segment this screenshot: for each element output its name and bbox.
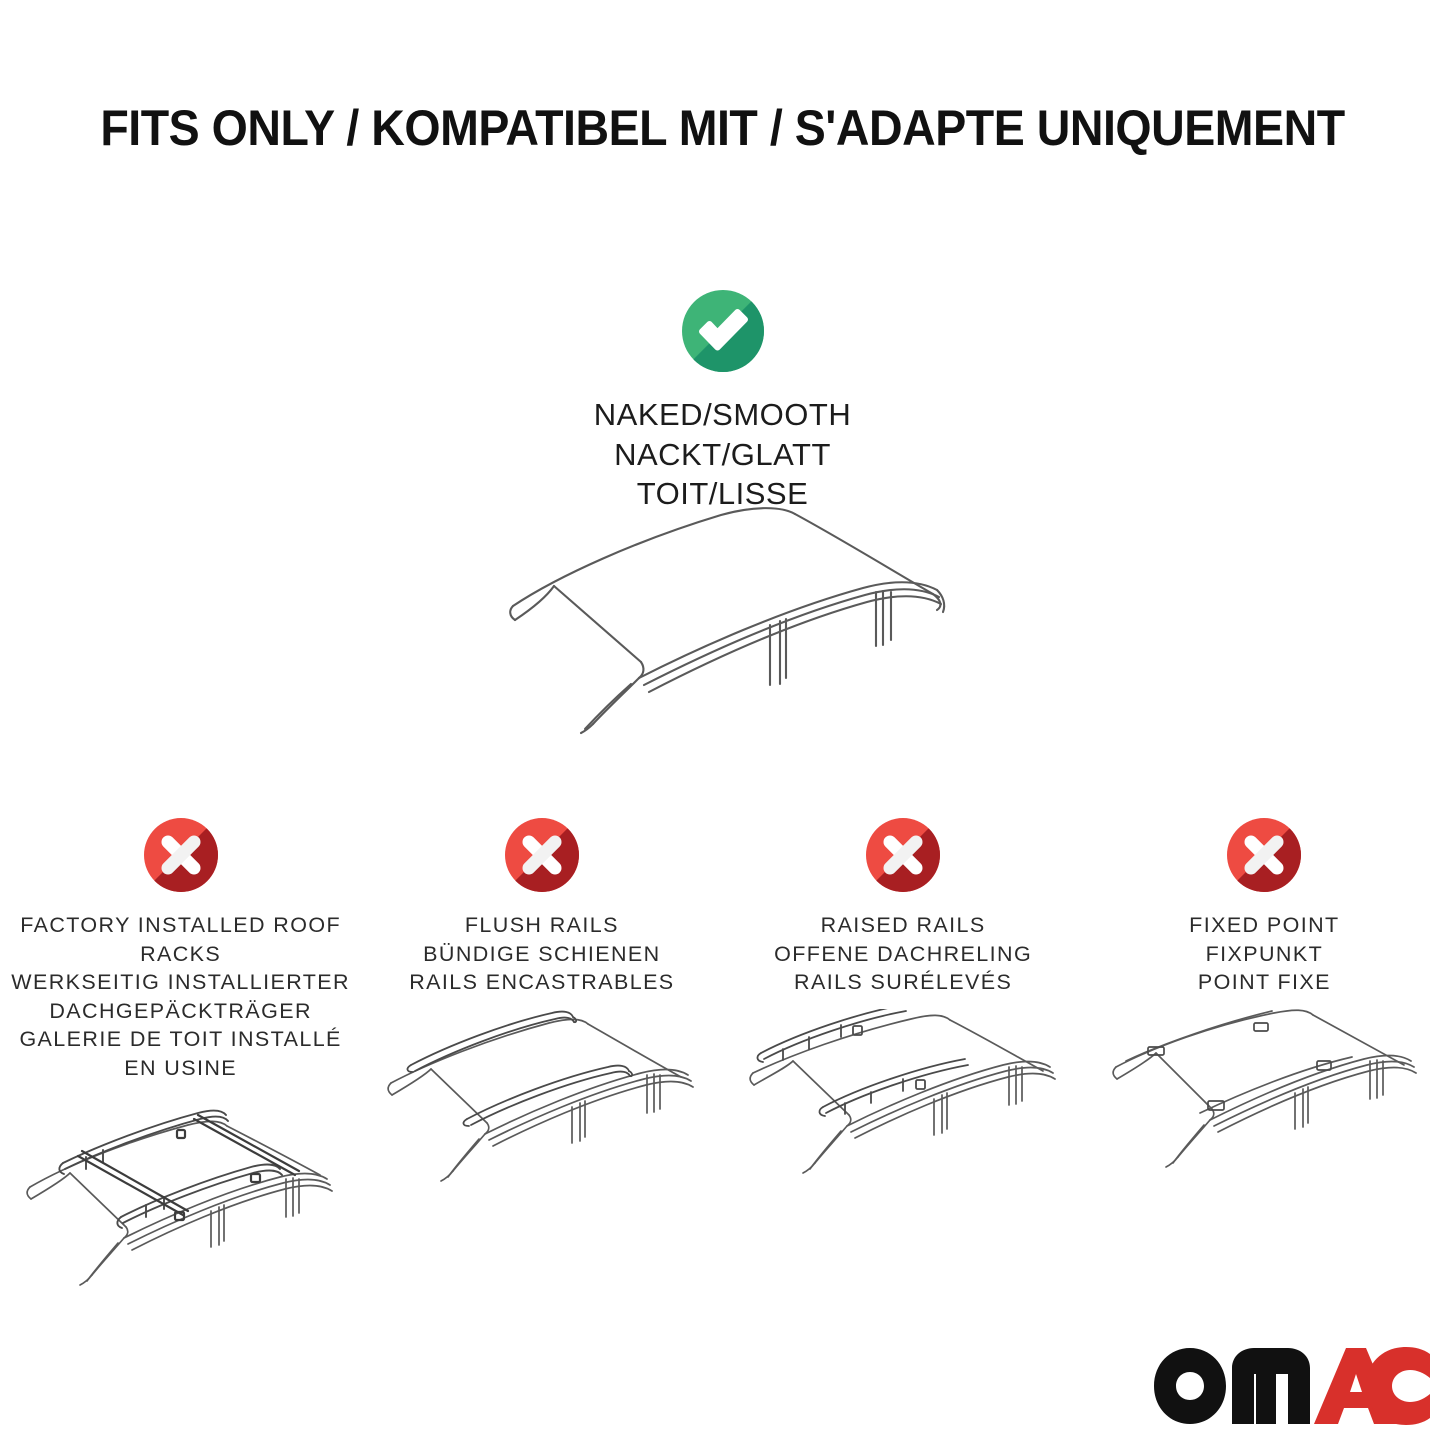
incompatible-labels: RAISED RAILS OFFENE DACHRELING RAILS SUR… [723, 911, 1084, 997]
label-line-1: FACTORY INSTALLED ROOF RACKS [0, 911, 361, 968]
label-line-2: WERKSEITIG INSTALLIERTER [0, 968, 361, 997]
x-circle-icon [1227, 818, 1301, 892]
label-line-3: DACHGEPÄCKTRÄGER [0, 997, 361, 1026]
label-line-2: BÜNDIGE SCHIENEN [361, 940, 722, 969]
roof-line-art [8, 1095, 353, 1305]
x-mark-glyph [144, 818, 218, 892]
x-circle-icon [505, 818, 579, 892]
logo-letter-o [1154, 1348, 1226, 1424]
roof-line-art [463, 488, 983, 743]
label-line-4: GALERIE DE TOIT INSTALLÉ EN USINE [0, 1025, 361, 1082]
label-line-2: OFFENE DACHRELING [723, 940, 1084, 969]
fixed-point-illustration [1084, 1009, 1445, 1224]
factory-roof-rack-illustration [0, 1095, 361, 1310]
compatible-label-en: NAKED/SMOOTH [0, 395, 1445, 435]
roof-line-art [1104, 1009, 1424, 1219]
incompatible-labels: FACTORY INSTALLED ROOF RACKS WERKSEITIG … [0, 911, 361, 1083]
label-line-3: RAILS ENCASTRABLES [361, 968, 722, 997]
page-title: FITS ONLY / KOMPATIBEL MIT / S'ADAPTE UN… [51, 102, 1395, 155]
naked-smooth-roof-illustration [0, 488, 1445, 748]
incompatible-item-factory-roof-racks: FACTORY INSTALLED ROOF RACKS WERKSEITIG … [0, 818, 361, 1310]
omac-logo: OMAC [1152, 1346, 1432, 1428]
incompatible-item-raised-rails: RAISED RAILS OFFENE DACHRELING RAILS SUR… [723, 818, 1084, 1224]
flush-rails-illustration [361, 1009, 722, 1224]
x-circle-icon [866, 818, 940, 892]
label-line-2: FIXPUNKT [1084, 940, 1445, 969]
roof-line-art [369, 1009, 714, 1219]
check-mark-glyph [682, 290, 764, 372]
roof-line-art [731, 1009, 1076, 1219]
omac-logo-glyph [1152, 1346, 1432, 1428]
incompatible-section: FACTORY INSTALLED ROOF RACKS WERKSEITIG … [0, 818, 1445, 1310]
incompatible-labels: FLUSH RAILS BÜNDIGE SCHIENEN RAILS ENCAS… [361, 911, 722, 997]
x-mark-glyph [1227, 818, 1301, 892]
label-line-1: RAISED RAILS [723, 911, 1084, 940]
raised-rails-illustration [723, 1009, 1084, 1224]
compatible-label-de: NACKT/GLATT [0, 435, 1445, 475]
x-mark-glyph [505, 818, 579, 892]
incompatible-item-flush-rails: FLUSH RAILS BÜNDIGE SCHIENEN RAILS ENCAS… [361, 818, 722, 1224]
incompatible-labels: FIXED POINT FIXPUNKT POINT FIXE [1084, 911, 1445, 997]
label-line-3: POINT FIXE [1084, 968, 1445, 997]
incompatible-item-fixed-point: FIXED POINT FIXPUNKT POINT FIXE [1084, 818, 1445, 1224]
logo-letter-m [1232, 1348, 1310, 1424]
label-line-1: FIXED POINT [1084, 911, 1445, 940]
compatible-section: NAKED/SMOOTH NACKT/GLATT TOIT/LISSE [0, 290, 1445, 514]
label-line-1: FLUSH RAILS [361, 911, 722, 940]
x-circle-icon [144, 818, 218, 892]
check-circle-icon [682, 290, 764, 372]
x-mark-glyph [866, 818, 940, 892]
label-line-3: RAILS SURÉLEVÉS [723, 968, 1084, 997]
page-header: FITS ONLY / KOMPATIBEL MIT / S'ADAPTE UN… [0, 102, 1445, 155]
